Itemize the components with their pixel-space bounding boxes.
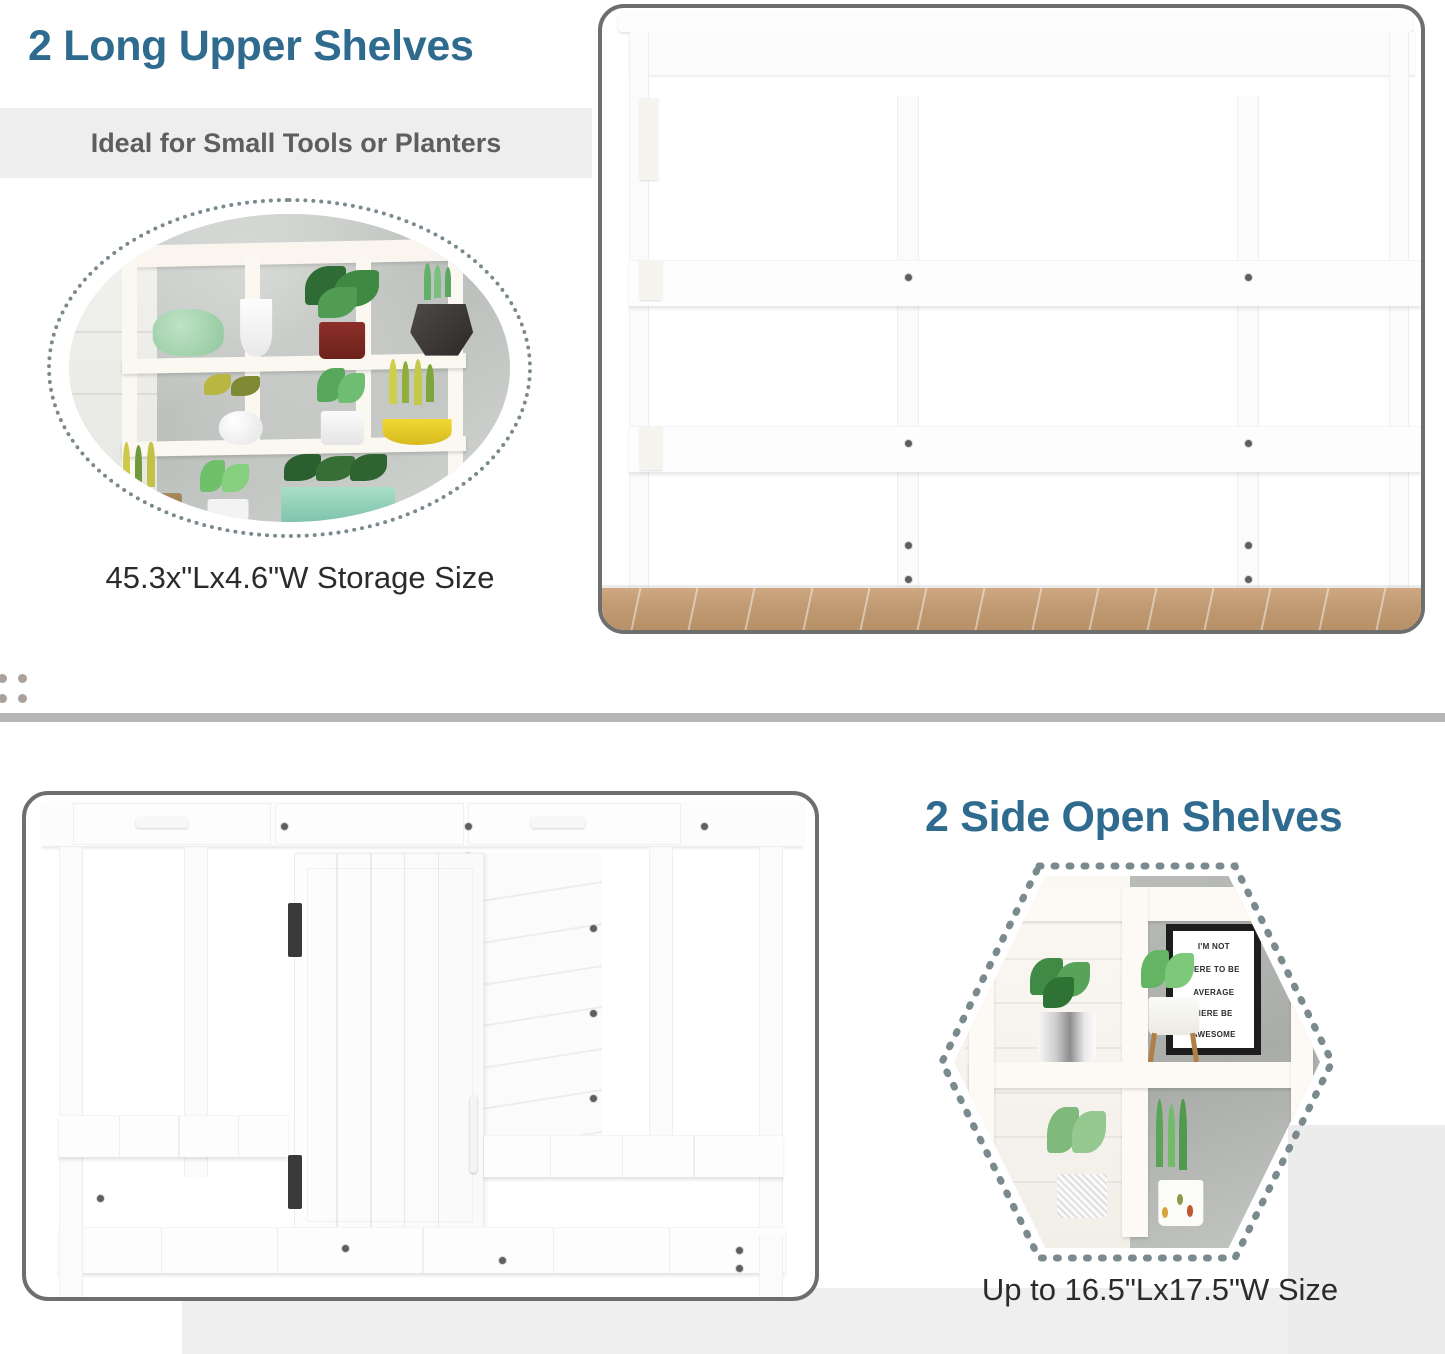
door-hinge-bottom — [288, 1155, 302, 1209]
bottom-product-photo — [22, 791, 819, 1301]
top-section-subtitle: Ideal for Small Tools or Planters — [91, 128, 502, 159]
door-hinge-top — [288, 903, 302, 957]
oval-inset-photo — [69, 214, 510, 522]
bottom-shelf — [59, 1227, 785, 1273]
bottom-section-caption: Up to 16.5"Lx17.5"W Size — [925, 1272, 1395, 1308]
section-long-upper-shelves: 2 Long Upper Shelves Ideal for Small Too… — [0, 0, 1445, 712]
hexagon-inset-figure: I'M NOT HERE TO BE AVERAGE HERE BE AWESO… — [938, 862, 1336, 1262]
cabinet-door[interactable] — [294, 853, 483, 1233]
oval-inset-figure — [47, 198, 532, 538]
wood-deck-floor — [602, 588, 1421, 630]
door-latch[interactable] — [470, 1095, 477, 1173]
decorative-dot-cluster — [0, 672, 36, 704]
top-product-photo — [598, 4, 1425, 634]
top-section-heading: 2 Long Upper Shelves — [28, 22, 474, 71]
section-divider — [0, 713, 1445, 722]
infographic-page: 2 Long Upper Shelves Ideal for Small Too… — [0, 0, 1445, 1354]
top-subtitle-band: Ideal for Small Tools or Planters — [0, 108, 592, 178]
top-section-caption: 45.3x"Lx4.6"W Storage Size — [0, 560, 600, 596]
bottom-section-heading: 2 Side Open Shelves — [925, 793, 1342, 842]
